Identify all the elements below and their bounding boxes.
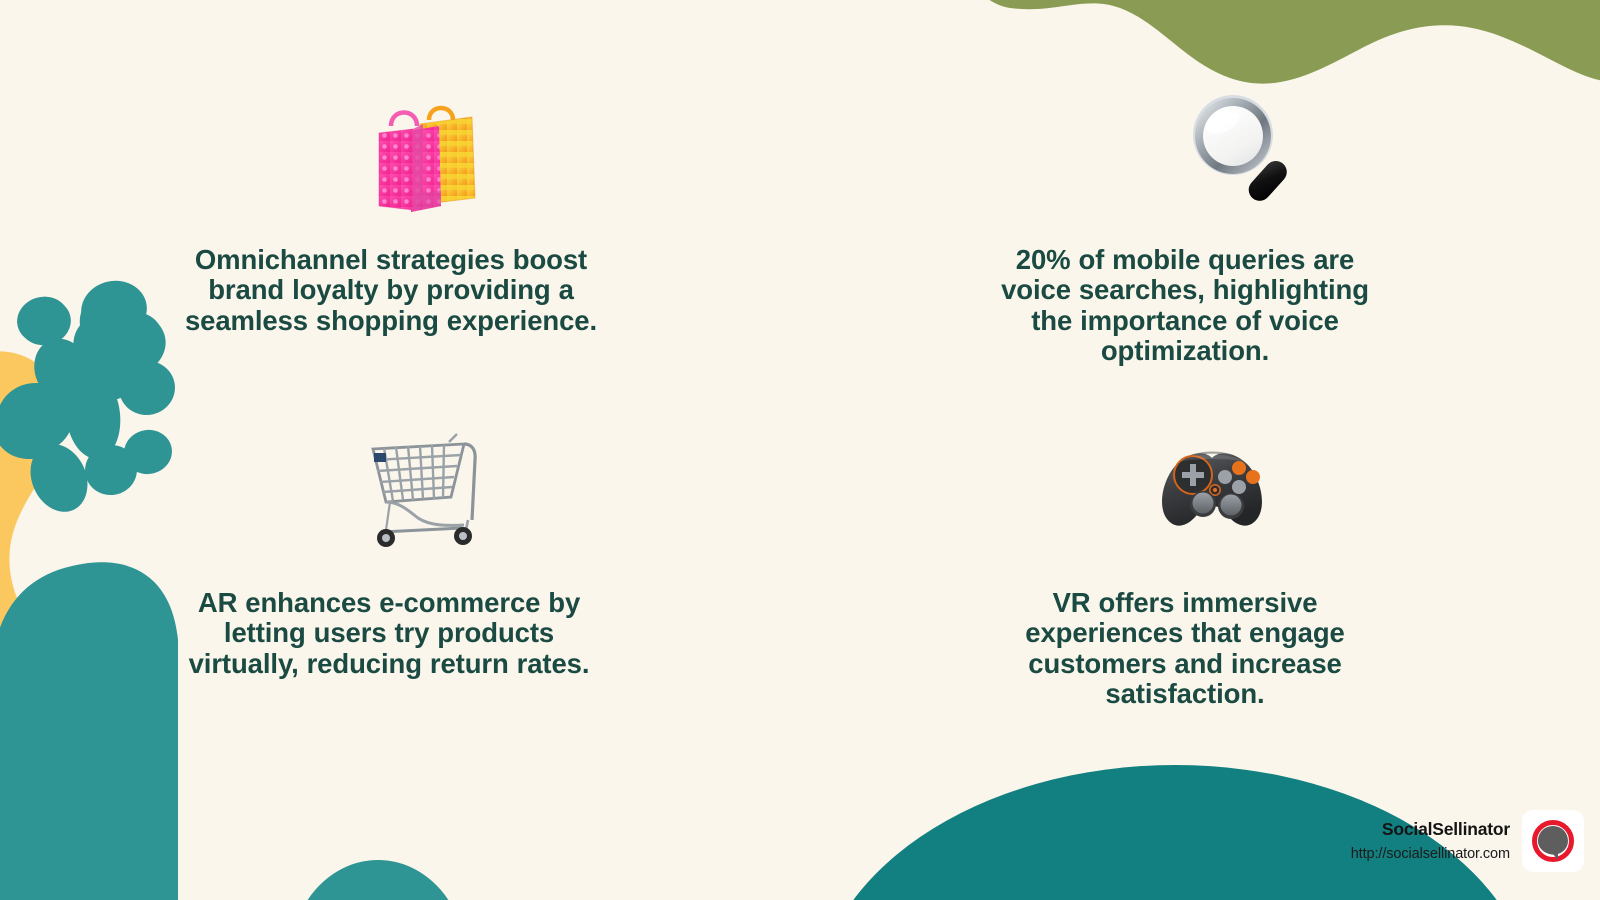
card-text-virtual-reality: VR offers immersive experiences that eng… <box>1000 588 1370 710</box>
brand-url[interactable]: http://socialsellinator.com <box>1351 844 1510 864</box>
brand-name: SocialSellinator <box>1351 818 1510 842</box>
card-augmented-reality: AR enhances e-commerce by letting users … <box>180 420 598 679</box>
brand-text-group: SocialSellinator http://socialsellinator… <box>1351 818 1510 864</box>
infographic-canvas: Omnichannel strategies boost brand loyal… <box>0 0 1600 900</box>
socialsellinator-logo <box>1522 810 1584 872</box>
card-text-voice-search: 20% of mobile queries are voice searches… <box>985 245 1385 367</box>
branding-block: SocialSellinator http://socialsellinator… <box>1351 810 1584 872</box>
game-controller-icon <box>1147 420 1277 550</box>
shopping-cart-icon <box>356 420 486 550</box>
magnifying-glass-icon <box>1177 86 1307 216</box>
card-text-augmented-reality: AR enhances e-commerce by letting users … <box>180 588 598 679</box>
card-omnichannel: Omnichannel strategies boost brand loyal… <box>176 86 606 336</box>
card-voice-search: 20% of mobile queries are voice searches… <box>985 86 1385 367</box>
card-text-omnichannel: Omnichannel strategies boost brand loyal… <box>176 245 606 336</box>
card-virtual-reality: VR offers immersive experiences that eng… <box>1000 420 1370 710</box>
content-grid: Omnichannel strategies boost brand loyal… <box>0 0 1600 900</box>
shopping-bags-icon <box>357 86 487 216</box>
